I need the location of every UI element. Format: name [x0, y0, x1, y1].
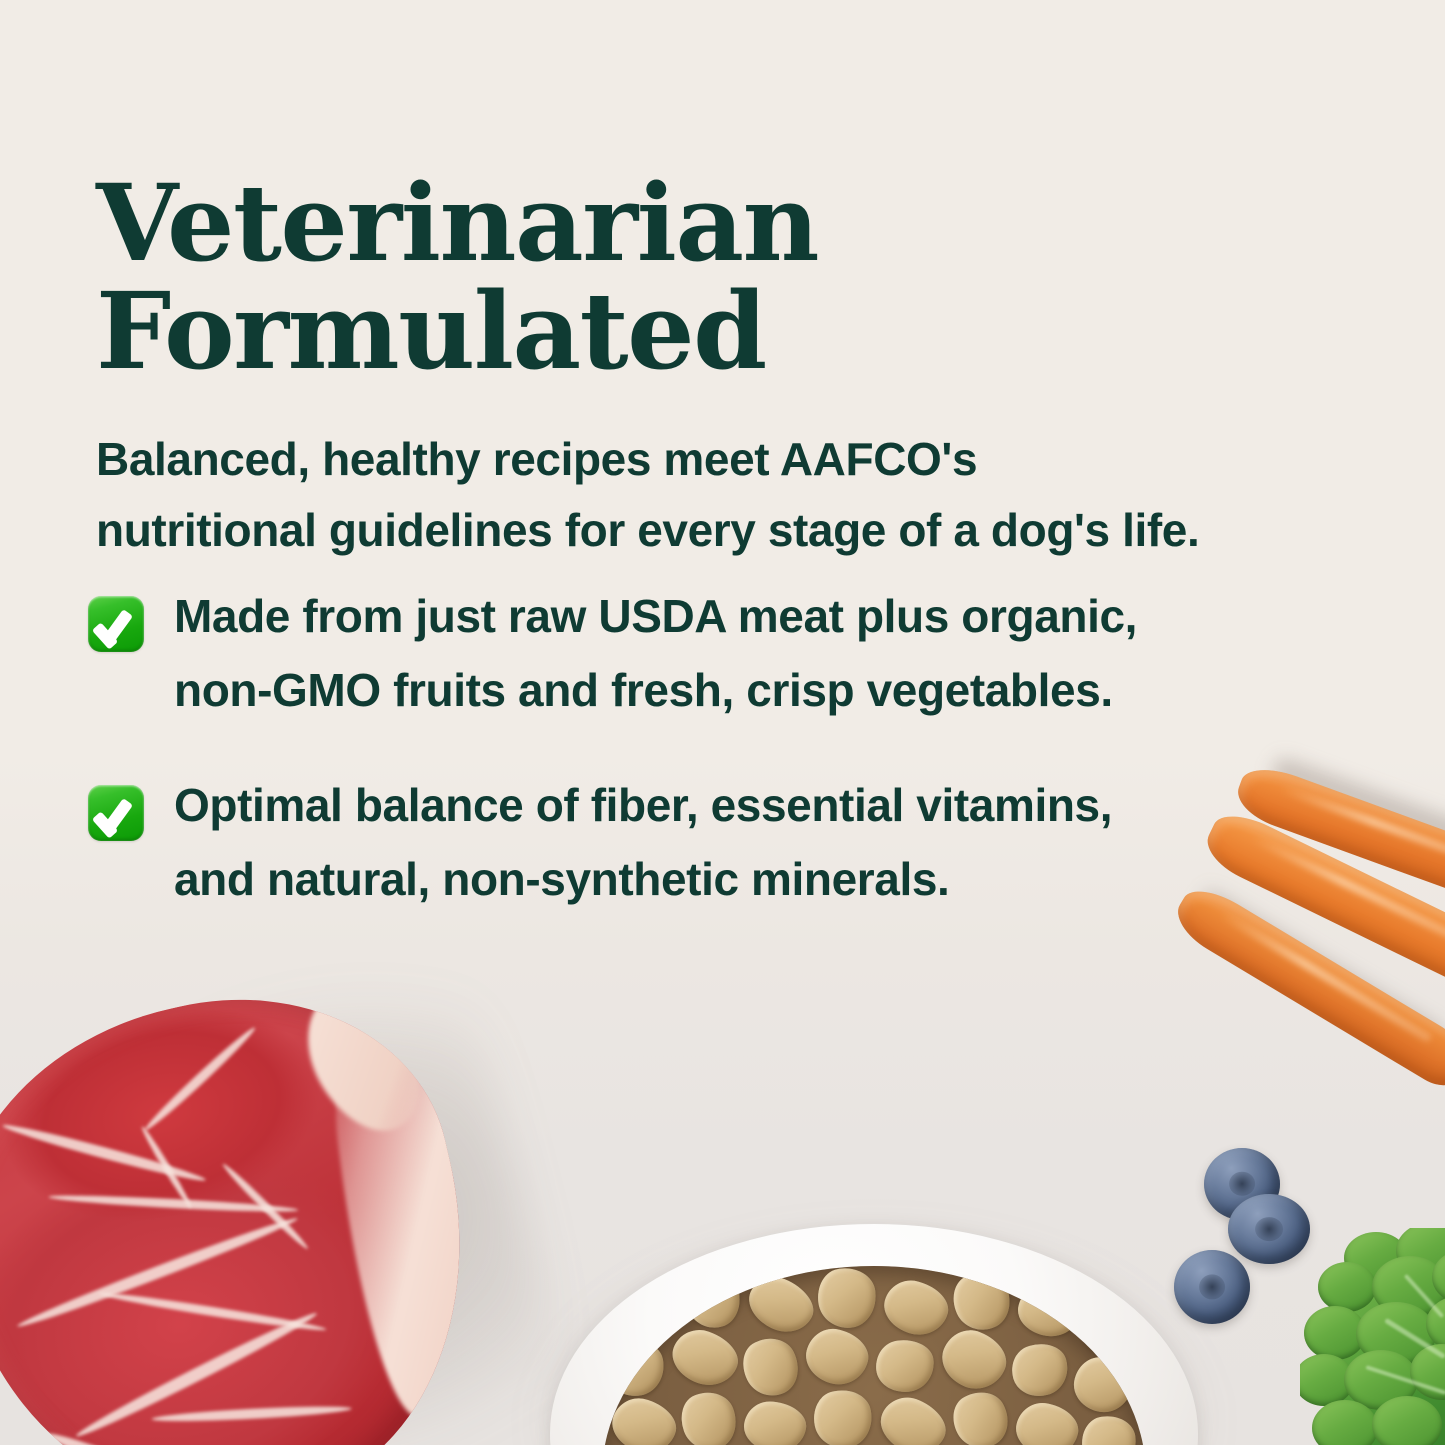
kale-leaf — [1300, 1228, 1445, 1445]
benefit-list: Made from just raw USDA meat plus organi… — [88, 576, 1408, 954]
page-title: Veterinarian Formulated — [96, 169, 1096, 385]
list-item-label: Optimal balance of fiber, essential vita… — [174, 765, 1112, 916]
kibble-bowl — [528, 1224, 1218, 1445]
raw-steak — [0, 975, 580, 1445]
subheading-text: Balanced, healthy recipes meet AAFCO's n… — [96, 424, 1396, 567]
blueberry-2 — [1228, 1194, 1310, 1264]
bowl-ceramic — [550, 1224, 1198, 1445]
list-item: Made from just raw USDA meat plus organi… — [88, 576, 1408, 727]
white-check-mark-icon — [88, 785, 144, 841]
list-item-label: Made from just raw USDA meat plus organi… — [174, 576, 1137, 727]
white-check-mark-icon — [88, 596, 144, 652]
veterinarian-formulated-panel: Veterinarian Formulated Balanced, health… — [0, 0, 1445, 1445]
bowl-interior — [602, 1266, 1146, 1445]
list-item: Optimal balance of fiber, essential vita… — [88, 765, 1408, 916]
blueberry-3 — [1174, 1250, 1250, 1324]
